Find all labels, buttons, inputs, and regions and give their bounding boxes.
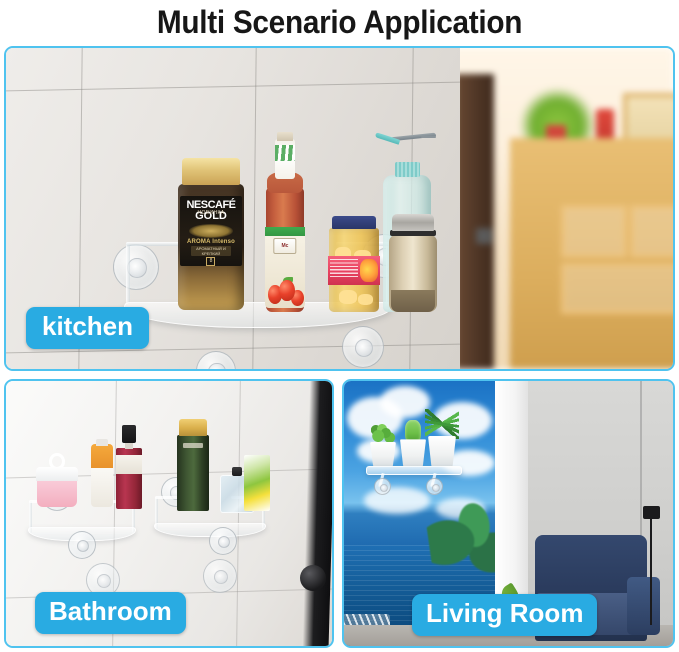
- cloud-shape: [380, 386, 429, 418]
- suction-cup: [374, 478, 391, 495]
- product-orange-white-bottle: [90, 439, 114, 507]
- tile-grout-line: [6, 82, 459, 92]
- pot-body: [400, 439, 426, 466]
- aloe-plant: [425, 409, 459, 439]
- product-tomato-sauce-bottle: Mc: [264, 132, 306, 312]
- coffee-bean-icon: [189, 224, 232, 238]
- product-succulent-pot-small: [370, 424, 396, 466]
- page-title: Multi Scenario Application: [24, 0, 655, 44]
- shelf-rail-top-left: [126, 242, 180, 246]
- spray-trigger-group: [374, 134, 436, 173]
- tomato-icon: [279, 280, 294, 302]
- suction-cup: [342, 326, 384, 368]
- product-preserve-jar: [328, 216, 380, 312]
- bottle-cap: [122, 425, 136, 443]
- bottle-label: Mc: [265, 236, 305, 308]
- bottle-cap: [232, 467, 243, 476]
- floor-lamp-pole: [650, 514, 652, 625]
- jar-lid: [36, 467, 78, 481]
- acrylic-shelf-living-room[interactable]: [366, 443, 462, 489]
- suction-cup: [113, 244, 159, 290]
- kitchen-background-room: [446, 48, 673, 369]
- jar-lid: [182, 158, 240, 185]
- bottle-lower: [91, 466, 112, 507]
- panel-kitchen[interactable]: НОВИНКА NESCAFÉ GOLD AROMA Intenso АРОМА…: [4, 46, 675, 371]
- coffee-intensity: 8: [206, 257, 215, 266]
- cactus-plant: [405, 420, 421, 442]
- wooden-cabinet-shape: [510, 138, 675, 369]
- shelf-rail-left: [126, 242, 130, 304]
- coffee-variant-ru: АРОМАТНЫЙ И КРЕПКИЙ: [191, 246, 231, 256]
- aloe-foliage: [425, 409, 459, 439]
- sachet-body: [244, 455, 270, 511]
- spray-lever: [375, 133, 400, 145]
- bottle-gold-cap: [179, 419, 206, 436]
- product-coffee-jar: НОВИНКА NESCAFÉ GOLD AROMA Intenso АРОМА…: [178, 158, 244, 310]
- jar-lid: [332, 216, 376, 229]
- jar-body: [37, 481, 77, 507]
- cactus-foliage: [405, 420, 421, 442]
- door-knob-icon: [300, 565, 326, 591]
- jar-label: [328, 256, 380, 285]
- door-shape: [455, 74, 494, 369]
- product-beige-jar: [389, 214, 437, 312]
- armchair-arm: [627, 577, 660, 635]
- bathroom-scene: Bathroom: [6, 381, 332, 646]
- label-text-lines: [330, 259, 358, 279]
- bottle-cap: [277, 132, 294, 141]
- bottle-neck: [125, 443, 133, 449]
- bottle-neck-band: [275, 145, 295, 161]
- fruit-icon: [360, 259, 378, 281]
- bottle-cap: [96, 439, 108, 446]
- cabinet-shelf-b: [630, 205, 675, 258]
- badge-living-room[interactable]: Living Room: [412, 594, 597, 636]
- door-handle-icon: [476, 228, 492, 244]
- jar-metal-lid: [392, 214, 434, 231]
- suction-cup: [203, 559, 237, 593]
- kitchen-scene: НОВИНКА NESCAFÉ GOLD AROMA Intenso АРОМА…: [6, 48, 673, 369]
- product-green-gold-bottle: [176, 419, 210, 511]
- suction-cup: [68, 531, 96, 559]
- floor-lamp-head: [643, 506, 659, 519]
- product-aloe-pot: [428, 414, 456, 466]
- panel-living-room[interactable]: Living Room: [342, 379, 675, 648]
- product-pink-cream-jar: [36, 467, 78, 507]
- sauce-brand-logo: Mc: [273, 238, 296, 254]
- pot-body: [370, 442, 396, 466]
- living-room-scene: Living Room: [344, 381, 673, 646]
- scenario-grid: НОВИНКА NESCAFÉ GOLD AROMA Intenso АРОМА…: [4, 46, 675, 648]
- bottle-label-band: [116, 455, 142, 473]
- pot-body: [428, 436, 456, 466]
- product-green-sachet: [244, 455, 270, 511]
- badge-kitchen[interactable]: kitchen: [26, 307, 149, 349]
- cloud-shape: [364, 487, 430, 514]
- coffee-label: НОВИНКА NESCAFÉ GOLD AROMA Intenso АРОМА…: [180, 196, 242, 266]
- product-cactus-pot: [400, 420, 426, 466]
- suction-cup: [426, 478, 443, 495]
- product-dark-red-perfume: [116, 425, 142, 509]
- bottle-upper: [91, 444, 112, 467]
- coffee-variant: AROMA Intenso: [187, 239, 235, 245]
- bottle-logo: [183, 443, 202, 448]
- jar-contents: [339, 290, 357, 303]
- badge-bathroom[interactable]: Bathroom: [35, 592, 186, 634]
- cabinet-shelf-a: [561, 205, 626, 258]
- succulent-foliage: [371, 424, 395, 444]
- succulent-plant: [371, 424, 395, 444]
- jar-contents: [358, 294, 373, 306]
- panel-bathroom[interactable]: Bathroom: [4, 379, 334, 648]
- coffee-novinka-text: НОВИНКА: [180, 210, 242, 216]
- suction-cup: [209, 527, 237, 555]
- cabinet-shelf-c: [561, 263, 675, 314]
- spray-nozzle-icon: [421, 136, 436, 138]
- jar-bottom: [391, 290, 435, 312]
